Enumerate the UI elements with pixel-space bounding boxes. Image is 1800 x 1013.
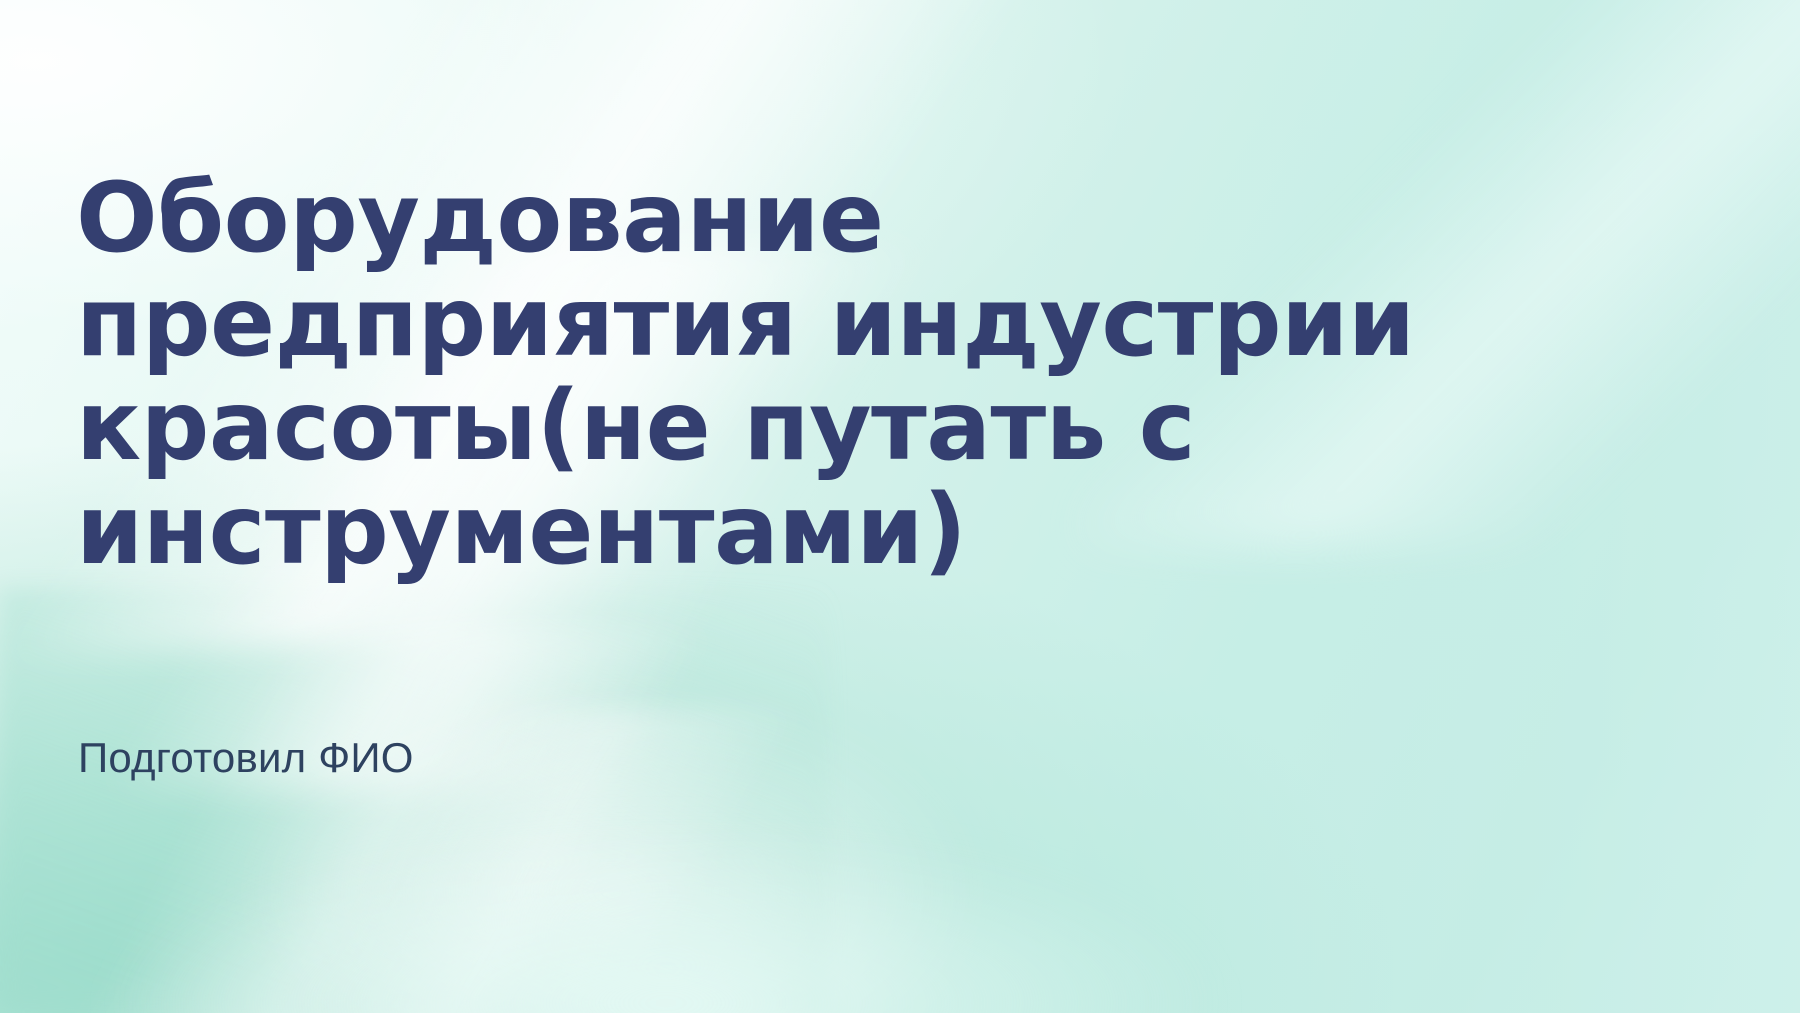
slide-title: Оборудование предприятия индустрии красо…: [76, 166, 1476, 582]
title-slide: Оборудование предприятия индустрии красо…: [0, 0, 1800, 1013]
slide-content: Оборудование предприятия индустрии красо…: [76, 0, 1496, 1013]
slide-subtitle-author: Подготовил ФИО: [78, 732, 414, 784]
